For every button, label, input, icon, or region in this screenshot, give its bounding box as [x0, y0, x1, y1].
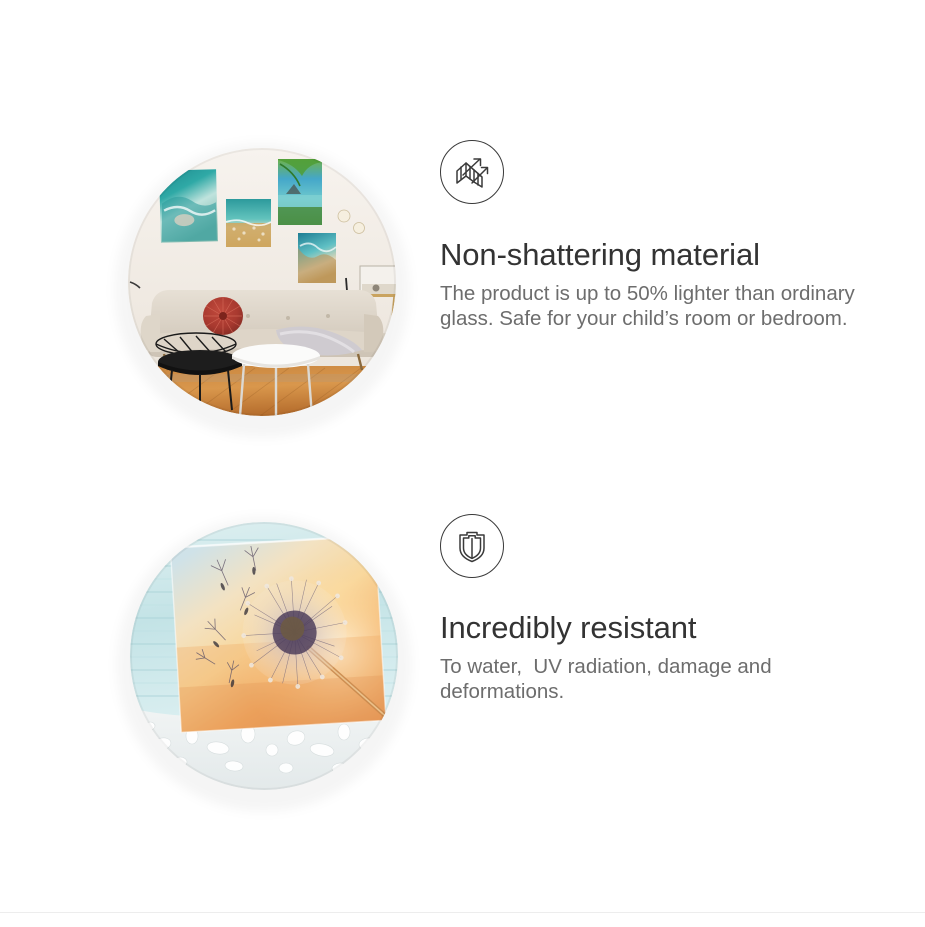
feature-info-non-shattering: Non-shattering material The product is u… [440, 140, 880, 331]
feature-description: To water, UV radiation, damage and defor… [440, 654, 800, 704]
shield-icon [440, 514, 504, 578]
dandelion-glass-print-photo [130, 522, 398, 790]
feature-title: Incredibly resistant [440, 612, 880, 645]
feature-title: Non-shattering material [440, 239, 880, 272]
feature-info-incredibly-resistant: Incredibly resistant To water, UV radiat… [440, 514, 880, 704]
feature-description: The product is up to 50% lighter than or… [440, 281, 870, 331]
photo-non-shattering [128, 148, 396, 416]
living-room-with-wall-art-photo [128, 148, 396, 416]
bottom-divider [0, 912, 925, 913]
page-root: Non-shattering material The product is u… [0, 0, 925, 927]
photo-incredibly-resistant [130, 522, 398, 790]
flexible-panel-arrows-icon [440, 140, 504, 204]
